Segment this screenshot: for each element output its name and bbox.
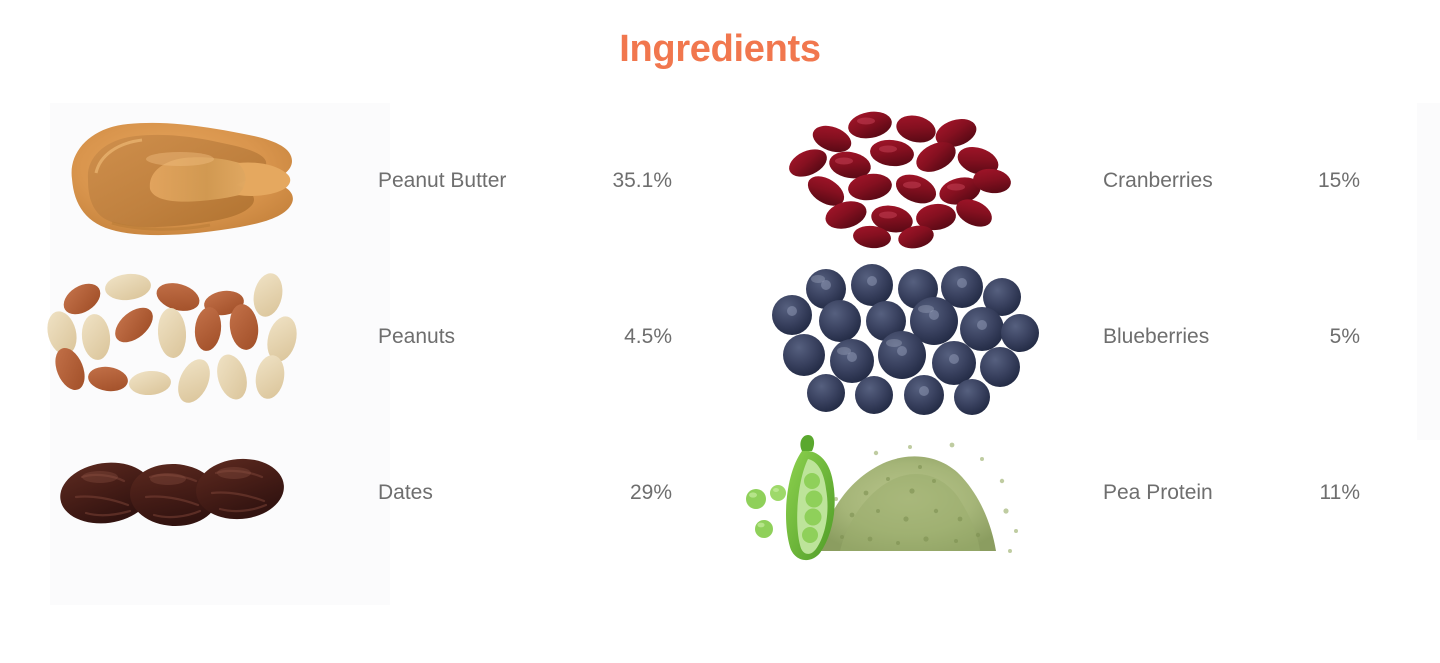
dates-icon	[0, 415, 340, 571]
blueberries-photo	[720, 259, 1063, 415]
left-column: Peanut Butter 35.1%	[0, 103, 720, 663]
ingredient-value: 11%	[1270, 481, 1440, 505]
ingredient-row: Cranberries 15%	[720, 103, 1440, 259]
ingredient-row: Peanut Butter 35.1%	[0, 103, 720, 259]
ingredient-label: Pea Protein	[1063, 481, 1270, 505]
ingredient-value: 15%	[1270, 169, 1440, 193]
pea-protein-photo	[720, 415, 1063, 571]
pea-protein-icon	[720, 415, 1063, 571]
right-column: Cranberries 15%	[720, 103, 1440, 663]
dates-photo	[0, 415, 340, 571]
ingredient-label: Peanuts	[340, 325, 582, 349]
peanut-butter-photo	[0, 103, 340, 259]
ingredient-value: 29%	[582, 481, 720, 505]
ingredient-label: Dates	[340, 481, 582, 505]
ingredient-label: Peanut Butter	[340, 169, 582, 193]
ingredient-label: Cranberries	[1063, 169, 1270, 193]
peanuts-photo	[0, 259, 340, 415]
ingredient-value: 5%	[1270, 325, 1440, 349]
cranberries-photo	[720, 103, 1063, 259]
blueberries-icon	[720, 259, 1063, 415]
ingredient-row: Peanuts 4.5%	[0, 259, 720, 415]
peanuts-icon	[0, 259, 340, 415]
ingredient-row: Pea Protein 11%	[720, 415, 1440, 571]
peanut-butter-icon	[0, 103, 340, 259]
ingredient-value: 4.5%	[582, 325, 720, 349]
cranberries-icon	[720, 103, 1063, 259]
ingredient-row: Dates 29%	[0, 415, 720, 571]
ingredients-list: Peanut Butter 35.1%	[0, 103, 1440, 663]
ingredient-row: Blueberries 5%	[720, 259, 1440, 415]
ingredient-label: Blueberries	[1063, 325, 1270, 349]
page-title: Ingredients	[0, 28, 1440, 71]
ingredient-value: 35.1%	[582, 169, 720, 193]
